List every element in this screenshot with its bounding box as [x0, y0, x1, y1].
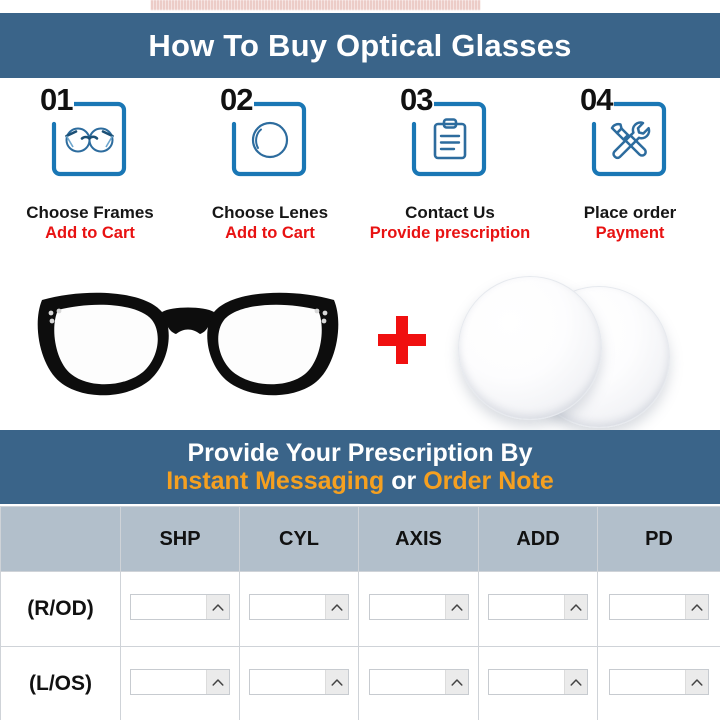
background-photo-strip	[0, 0, 720, 13]
prescription-banner: Provide Your Prescription By Instant Mes…	[0, 430, 720, 504]
step-icon-wrap-02: 02	[222, 86, 318, 190]
chevron-up-icon[interactable]	[445, 670, 468, 694]
step-number-03: 03	[400, 84, 434, 117]
dropdown-right-add[interactable]	[488, 594, 588, 620]
table-header-pd: PD	[598, 507, 720, 572]
step-sublabel-02: Add to Cart	[225, 223, 315, 244]
cell-left-add	[479, 647, 598, 720]
step-icon-wrap-01: 01	[42, 86, 138, 190]
step-label-03: Contact Us	[405, 202, 495, 223]
dropdown-left-add[interactable]	[488, 669, 588, 695]
cell-left-shp	[121, 647, 240, 720]
chevron-up-icon[interactable]	[206, 595, 229, 619]
dropdown-right-cyl[interactable]	[249, 594, 349, 620]
lens-front	[458, 276, 602, 420]
chevron-up-icon[interactable]	[325, 595, 348, 619]
order-note-text: Order Note	[423, 467, 554, 495]
step-icon-wrap-03: 03	[402, 86, 498, 190]
dropdown-value-right-axis	[370, 595, 445, 619]
cell-left-cyl	[240, 647, 359, 720]
table-header-blank	[1, 507, 121, 572]
dropdown-right-pd[interactable]	[609, 594, 709, 620]
chevron-up-icon[interactable]	[564, 595, 587, 619]
step-number-01: 01	[40, 84, 74, 117]
dropdown-value-left-shp	[131, 670, 206, 694]
dropdown-value-right-pd	[610, 595, 685, 619]
cell-right-add	[479, 572, 598, 647]
chevron-up-icon[interactable]	[445, 595, 468, 619]
step-sublabel-04: Payment	[596, 223, 665, 244]
cell-right-pd	[598, 572, 720, 647]
dropdown-value-left-add	[489, 670, 564, 694]
table-row: (R/OD)	[1, 572, 720, 647]
step-label-04: Place order	[584, 202, 677, 223]
table-header-row: SHP CYL AXIS ADD PD	[1, 507, 720, 572]
dropdown-right-shp[interactable]	[130, 594, 230, 620]
dropdown-value-right-cyl	[250, 595, 325, 619]
page-title: How To Buy Optical Glasses	[148, 28, 571, 64]
step-sublabel-03: Provide prescription	[370, 223, 530, 244]
dropdown-value-left-axis	[370, 670, 445, 694]
step-item-02: 02 Choose Lenes Add to Cart	[180, 82, 360, 258]
page-header-band: How To Buy Optical Glasses	[0, 13, 720, 78]
dropdown-right-axis[interactable]	[369, 594, 469, 620]
chevron-up-icon[interactable]	[325, 670, 348, 694]
dropdown-value-right-shp	[131, 595, 206, 619]
dropdown-left-shp[interactable]	[130, 669, 230, 695]
dropdown-left-pd[interactable]	[609, 669, 709, 695]
chevron-up-icon[interactable]	[685, 595, 708, 619]
cell-left-axis	[359, 647, 479, 720]
step-item-03: 03 Contact Us Provide prescription	[360, 82, 540, 258]
connector-text: or	[384, 467, 423, 495]
chevron-up-icon[interactable]	[564, 670, 587, 694]
cell-right-cyl	[240, 572, 359, 647]
instant-messaging-text: Instant Messaging	[166, 467, 384, 495]
step-sublabel-01: Add to Cart	[45, 223, 135, 244]
table-header-axis: AXIS	[359, 507, 479, 572]
plus-icon	[378, 316, 426, 364]
prescription-table: SHP CYL AXIS ADD PD (R/OD)	[0, 506, 720, 720]
cell-right-axis	[359, 572, 479, 647]
step-item-01: 01 C	[0, 82, 180, 258]
dropdown-left-cyl[interactable]	[249, 669, 349, 695]
lenses-product-image	[440, 264, 710, 424]
chevron-up-icon[interactable]	[206, 670, 229, 694]
step-number-04: 04	[580, 84, 614, 117]
chevron-up-icon[interactable]	[685, 670, 708, 694]
dropdown-value-right-add	[489, 595, 564, 619]
step-label-02: Choose Lenes	[212, 202, 328, 223]
promo-page: How To Buy Optical Glasses 01	[0, 0, 720, 720]
row-label-right-eye: (R/OD)	[1, 572, 121, 647]
step-icon-wrap-04: 04	[582, 86, 678, 190]
cell-left-pd	[598, 647, 720, 720]
prescription-banner-line2: Instant Messaging or Order Note	[166, 467, 554, 495]
step-label-01: Choose Frames	[26, 202, 154, 223]
steps-row: 01 C	[0, 82, 720, 258]
dropdown-left-axis[interactable]	[369, 669, 469, 695]
table-header-shp: SHP	[121, 507, 240, 572]
dropdown-value-left-pd	[610, 670, 685, 694]
product-showcase-row	[0, 258, 720, 430]
step-number-02: 02	[220, 84, 254, 117]
cell-right-shp	[121, 572, 240, 647]
table-row: (L/OS)	[1, 647, 720, 720]
table-header-cyl: CYL	[240, 507, 359, 572]
row-label-left-eye: (L/OS)	[1, 647, 121, 720]
prescription-banner-line1: Provide Your Prescription By	[187, 439, 532, 467]
dropdown-value-left-cyl	[250, 670, 325, 694]
step-item-04: 04 Place order Payment	[540, 82, 720, 258]
eyeglasses-product-image	[14, 276, 362, 408]
table-header-add: ADD	[479, 507, 598, 572]
